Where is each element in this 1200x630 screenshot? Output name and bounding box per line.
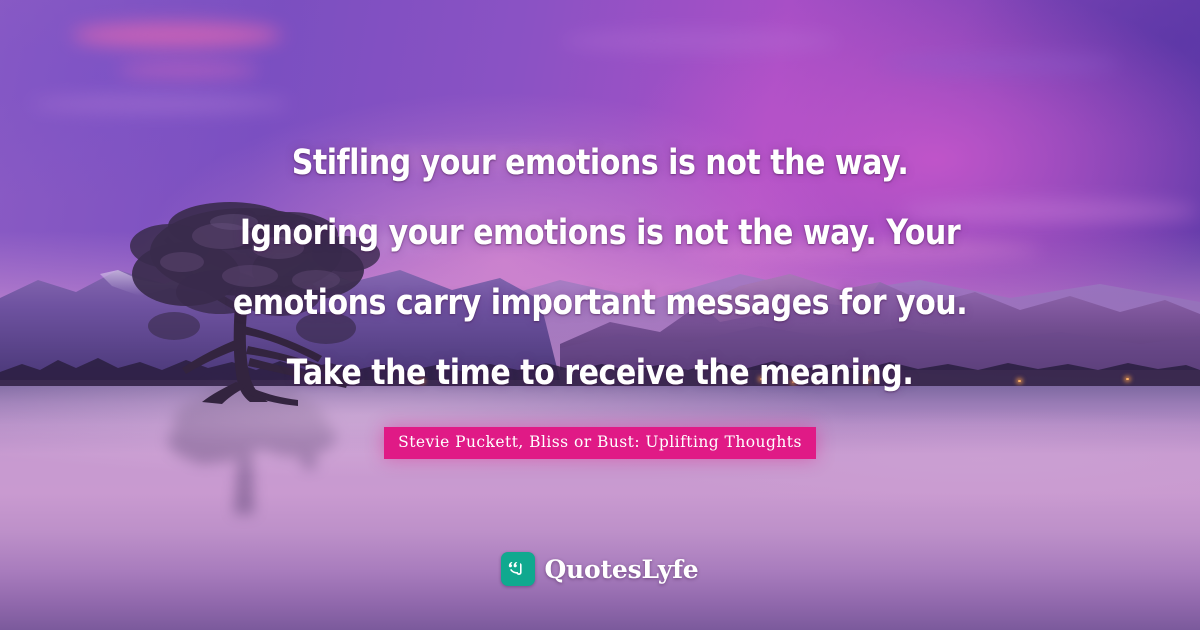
cloud-wisp xyxy=(72,22,282,48)
quote-line: emotions carry important messages for yo… xyxy=(84,268,1116,338)
cloud-wisp xyxy=(118,62,258,78)
brand-name: QuotesLyfe xyxy=(544,555,698,584)
quote-card: Stifling your emotions is not the way. I… xyxy=(0,0,1200,630)
quote-text: Stifling your emotions is not the way. I… xyxy=(0,128,1200,408)
quote-line: Stifling your emotions is not the way. xyxy=(84,128,1116,198)
brand-logo[interactable]: QuotesLyfe xyxy=(0,552,1200,586)
quote-line: Take the time to receive the meaning. xyxy=(84,338,1116,408)
cloud-wisp xyxy=(880,54,1120,74)
attribution-badge: Stevie Puckett, Bliss or Bust: Uplifting… xyxy=(384,427,816,459)
quote-line: Ignoring your emotions is not the way. Y… xyxy=(84,198,1116,268)
cloud-wisp xyxy=(30,95,290,113)
water-sheen xyxy=(0,386,1200,630)
cloud-wisp xyxy=(560,30,840,52)
attribution-wrap: Stevie Puckett, Bliss or Bust: Uplifting… xyxy=(0,427,1200,459)
quote-mark-icon xyxy=(501,552,535,586)
